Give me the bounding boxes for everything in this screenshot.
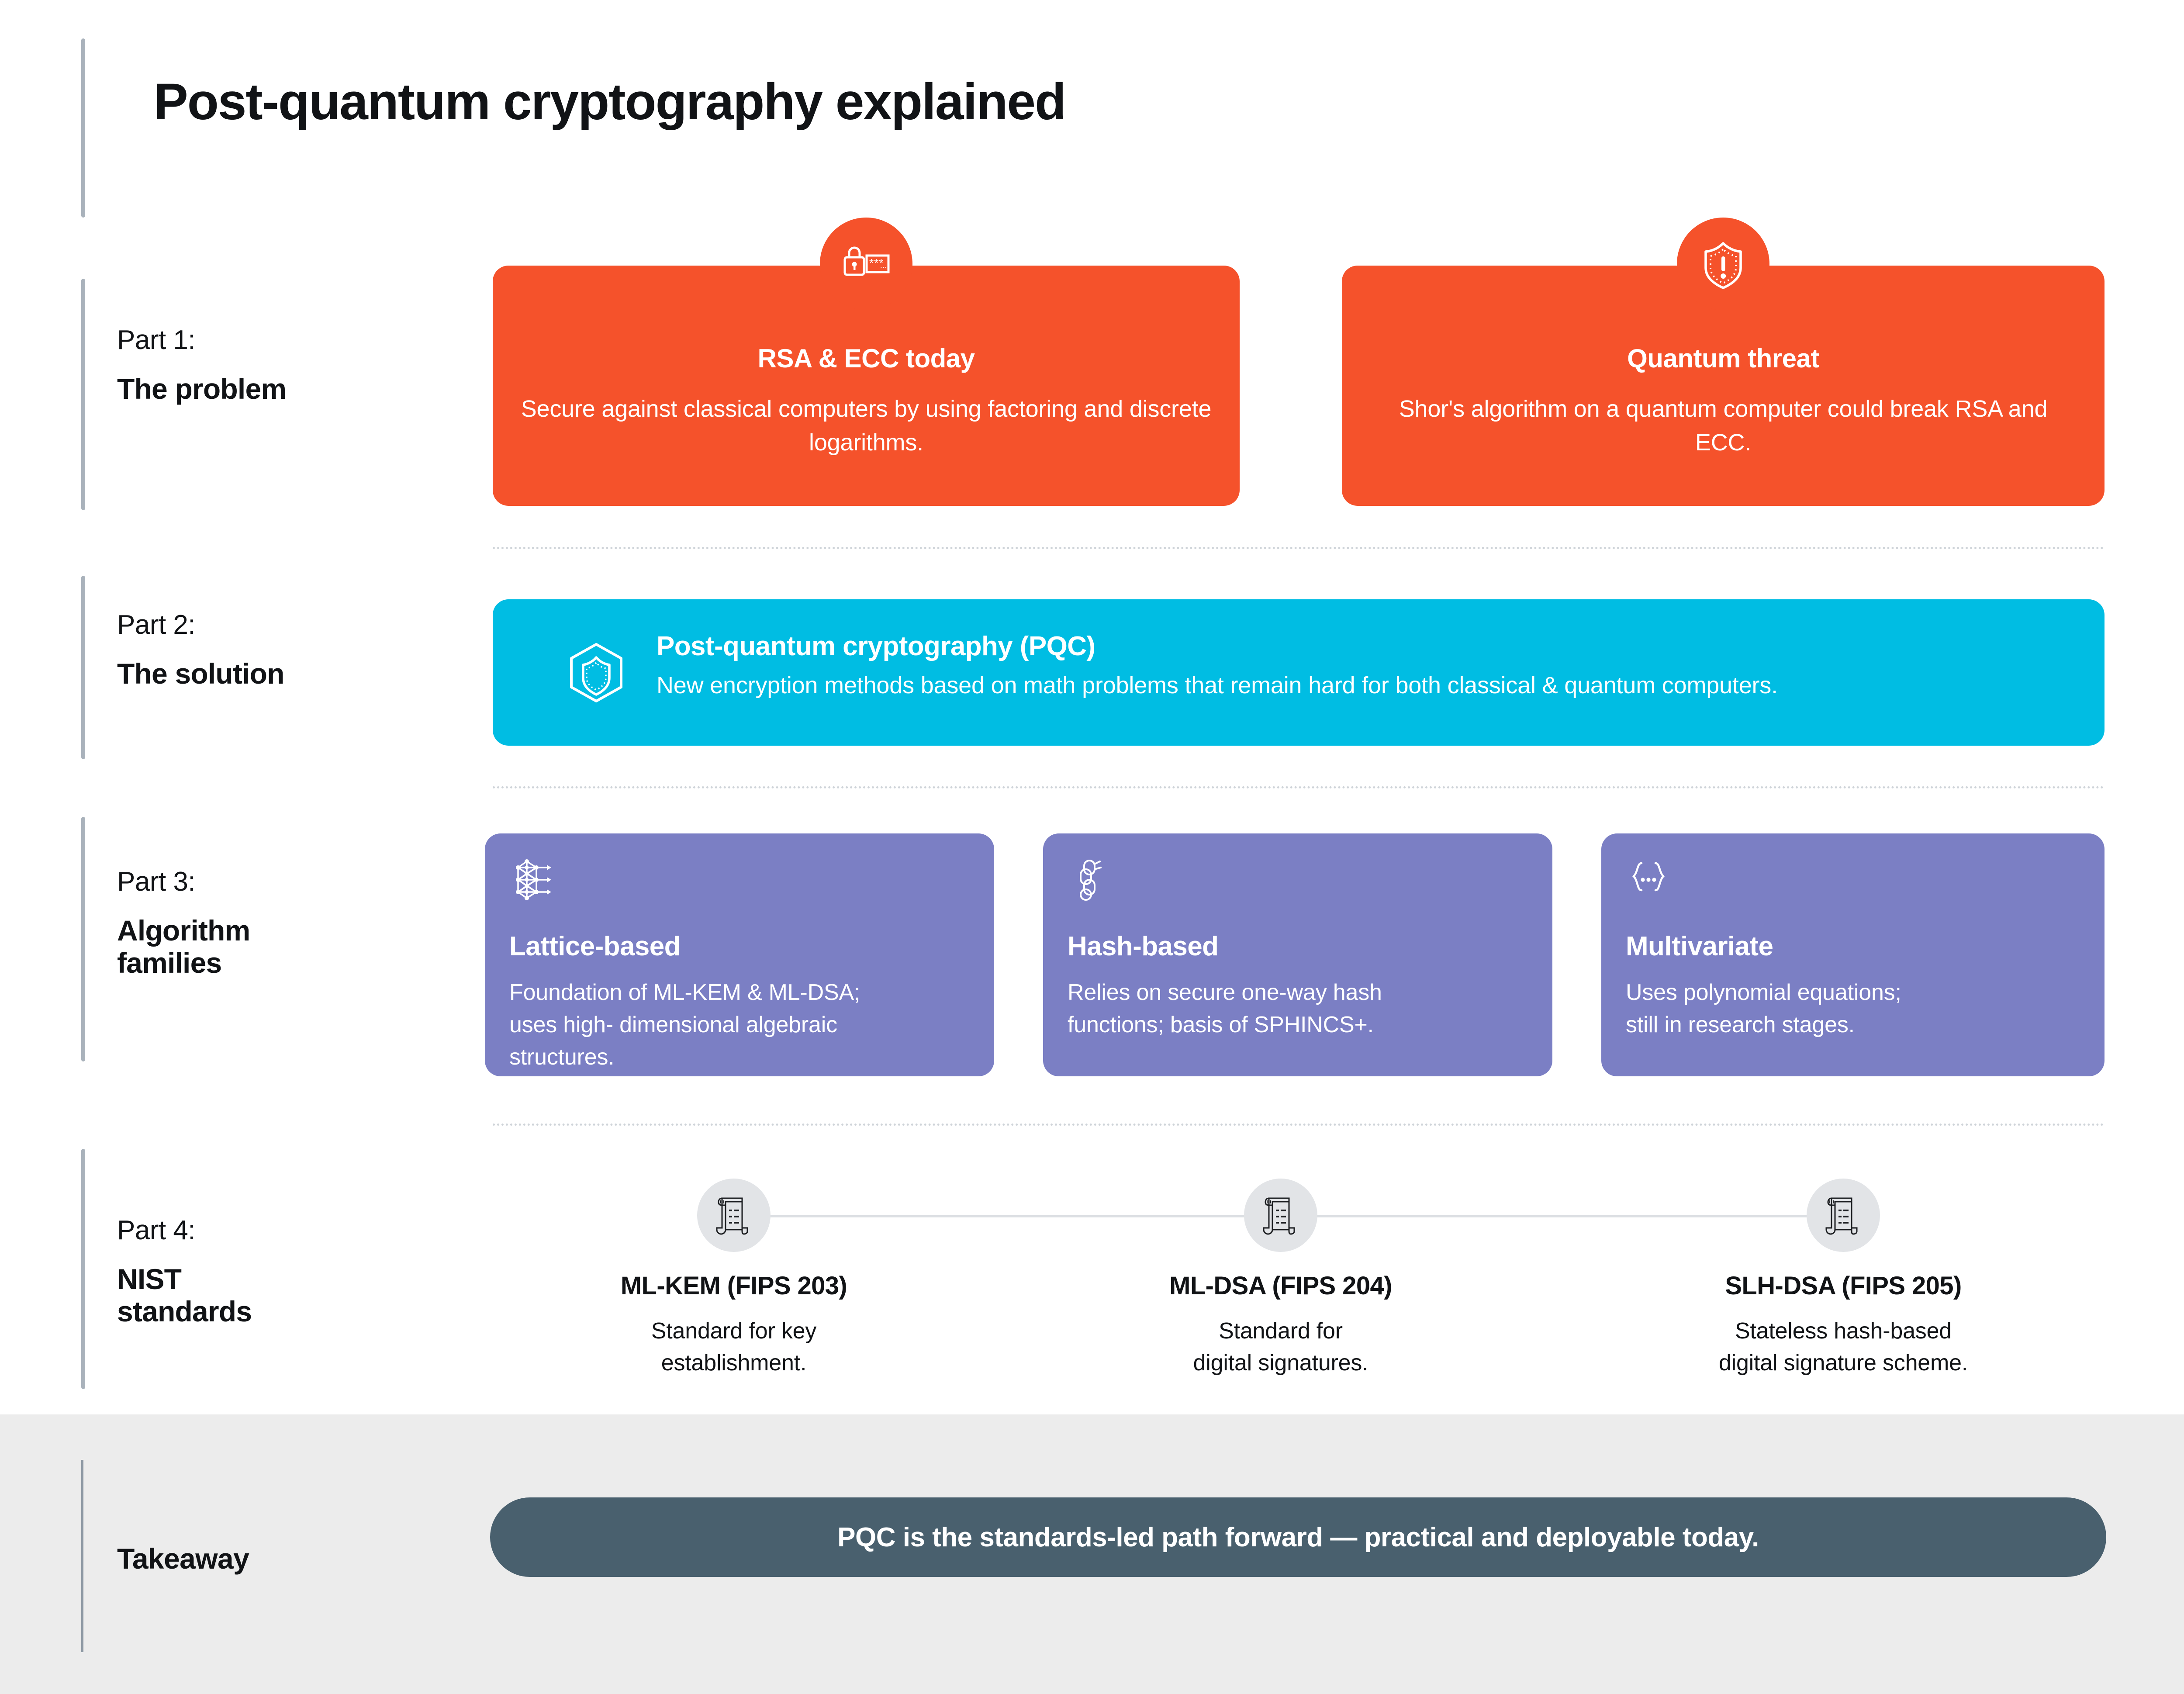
takeaway-rail bbox=[81, 1460, 83, 1652]
section-label-part3: Part 3: Algorithm families bbox=[117, 868, 250, 979]
section-rail-part4 bbox=[81, 1149, 85, 1389]
title-accent-rail bbox=[81, 38, 85, 218]
shield-alert-icon bbox=[1698, 236, 1749, 291]
section-title-part1: The problem bbox=[117, 373, 286, 405]
standard-body-ml-kem: Standard for key establishment. bbox=[515, 1315, 952, 1379]
card-body-lattice: Foundation of ML-KEM & ML-DSA; uses high… bbox=[509, 977, 970, 1073]
card-title-lattice: Lattice-based bbox=[509, 933, 970, 960]
card-body-rsa-ecc: Secure against classical computers by us… bbox=[519, 392, 1213, 459]
section-eyebrow-part1: Part 1: bbox=[117, 327, 286, 354]
shield-alert-badge bbox=[1677, 218, 1769, 310]
section-title-part4: NIST standards bbox=[117, 1263, 252, 1328]
svg-text:....: .... bbox=[880, 261, 889, 270]
standard-item-ml-kem: ML-KEM (FIPS 203) Standard for key estab… bbox=[515, 1271, 952, 1379]
takeaway-label: Takeaway bbox=[117, 1542, 249, 1575]
infographic-page: Post-quantum cryptography explained Part… bbox=[0, 0, 2184, 1694]
card-title-rsa-ecc: RSA & ECC today bbox=[493, 343, 1240, 373]
banner-post-quantum-cryptography[interactable]: Post-quantum cryptography (PQC) New encr… bbox=[493, 599, 2105, 746]
curly-braces-icon-wrap bbox=[1626, 857, 1671, 902]
standard-title-slh-dsa: SLH-DSA (FIPS 205) bbox=[1625, 1271, 2062, 1300]
section-label-part1: Part 1: The problem bbox=[117, 327, 286, 405]
hexagon-shield-icon bbox=[563, 640, 629, 705]
divider-part2-part3 bbox=[493, 786, 2105, 788]
standard-item-ml-dsa: ML-DSA (FIPS 204) Standard for digital s… bbox=[1062, 1271, 1499, 1379]
certificate-scroll-icon bbox=[1825, 1195, 1862, 1236]
section-rail-part2 bbox=[81, 576, 85, 759]
section-label-part2: Part 2: The solution bbox=[117, 612, 284, 690]
section-title-part3: Algorithm families bbox=[117, 915, 250, 979]
divider-part1-part2 bbox=[493, 547, 2105, 549]
banner-body-pqc: New encryption methods based on math pro… bbox=[657, 672, 1778, 699]
card-title-hash: Hash-based bbox=[1068, 933, 1528, 960]
section-rail-part1 bbox=[81, 279, 85, 510]
card-lattice-based[interactable]: Lattice-based Foundation of ML-KEM & ML-… bbox=[485, 833, 994, 1076]
banner-title-pqc: Post-quantum cryptography (PQC) bbox=[657, 631, 1095, 662]
section-label-part4: Part 4: NIST standards bbox=[117, 1217, 252, 1328]
section-rail-part3 bbox=[81, 817, 85, 1061]
password-lock-badge: *** .... bbox=[820, 218, 912, 310]
standard-node-ml-dsa[interactable] bbox=[1244, 1179, 1317, 1252]
section-eyebrow-part4: Part 4: bbox=[117, 1217, 252, 1244]
standard-title-ml-dsa: ML-DSA (FIPS 204) bbox=[1062, 1271, 1499, 1300]
card-multivariate[interactable]: Multivariate Uses polynomial equations; … bbox=[1601, 833, 2105, 1076]
card-hash-based[interactable]: Hash-based Relies on secure one-way hash… bbox=[1043, 833, 1552, 1076]
standard-node-ml-kem[interactable] bbox=[697, 1179, 771, 1252]
card-body-multivariate: Uses polynomial equations; still in rese… bbox=[1626, 977, 2080, 1041]
divider-part3-part4 bbox=[493, 1124, 2105, 1126]
card-body-quantum-threat: Shor's algorithm on a quantum computer c… bbox=[1368, 392, 2078, 459]
card-body-hash: Relies on secure one-way hash functions;… bbox=[1068, 977, 1528, 1041]
curly-braces-icon bbox=[1626, 857, 1671, 902]
certificate-scroll-icon bbox=[715, 1195, 753, 1236]
takeaway-text: PQC is the standards-led path forward — … bbox=[837, 1522, 1759, 1553]
chain-link-icon-wrap bbox=[1068, 857, 1113, 902]
section-title-part2: The solution bbox=[117, 658, 284, 690]
standard-title-ml-kem: ML-KEM (FIPS 203) bbox=[515, 1271, 952, 1300]
card-title-multivariate: Multivariate bbox=[1626, 933, 2080, 960]
chain-link-icon bbox=[1068, 857, 1113, 902]
hexagon-shield-icon-wrap bbox=[563, 640, 629, 705]
card-title-quantum-threat: Quantum threat bbox=[1342, 343, 2105, 373]
takeaway-pill[interactable]: PQC is the standards-led path forward — … bbox=[490, 1497, 2106, 1577]
standard-body-ml-dsa: Standard for digital signatures. bbox=[1062, 1315, 1499, 1379]
standard-item-slh-dsa: SLH-DSA (FIPS 205) Stateless hash-based … bbox=[1625, 1271, 2062, 1379]
section-eyebrow-part3: Part 3: bbox=[117, 868, 250, 895]
certificate-scroll-icon bbox=[1262, 1195, 1299, 1236]
page-title: Post-quantum cryptography explained bbox=[154, 72, 1065, 131]
standard-node-slh-dsa[interactable] bbox=[1807, 1179, 1880, 1252]
password-lock-icon: *** .... bbox=[839, 236, 894, 291]
lattice-network-icon-wrap bbox=[509, 857, 555, 902]
lattice-network-icon bbox=[509, 857, 555, 902]
section-eyebrow-part2: Part 2: bbox=[117, 612, 284, 639]
standard-body-slh-dsa: Stateless hash-based digital signature s… bbox=[1625, 1315, 2062, 1379]
